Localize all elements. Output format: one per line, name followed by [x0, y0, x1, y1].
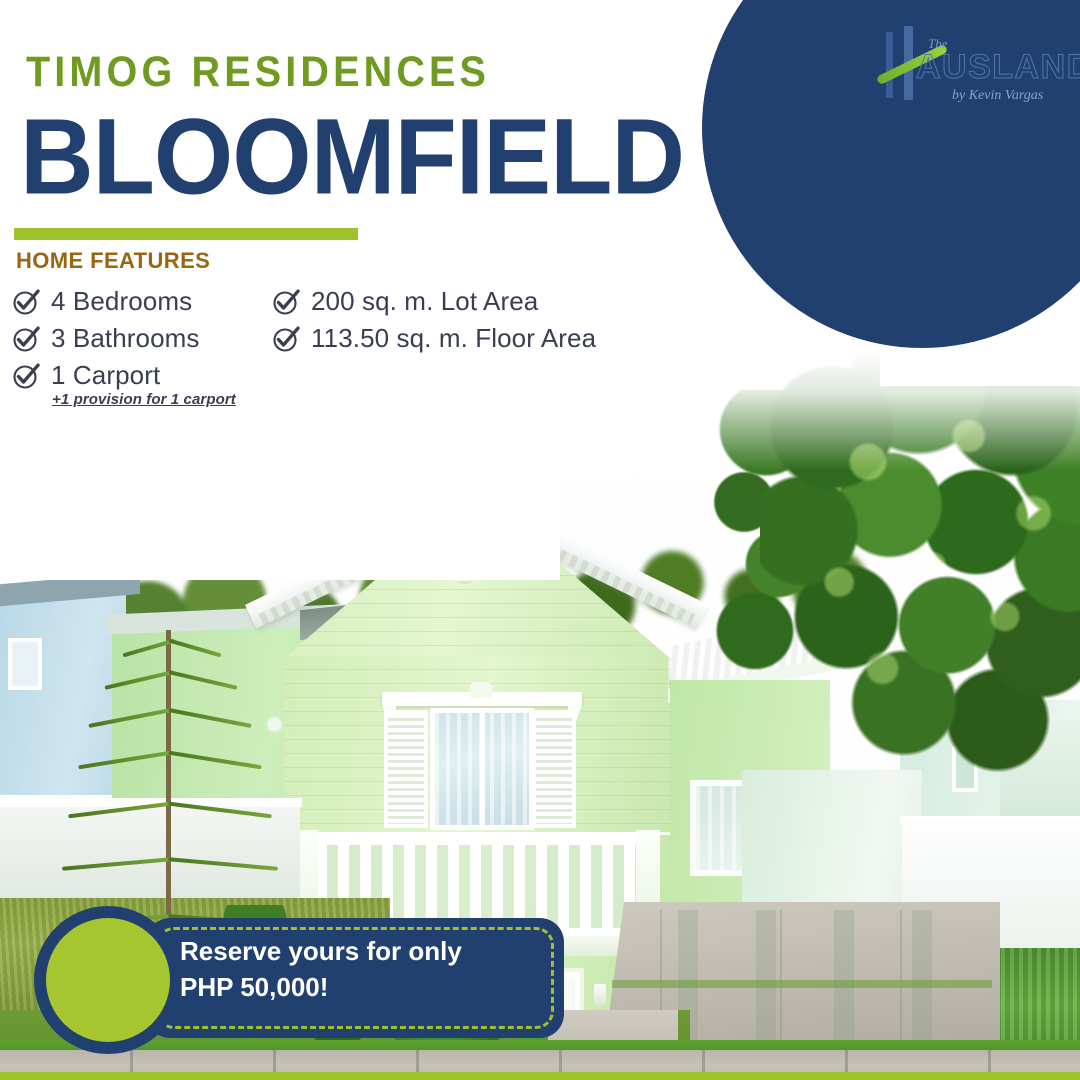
feature-item: 1 Carport [12, 357, 272, 394]
feature-item: 200 sq. m. Lot Area [272, 283, 692, 320]
feature-label: 1 Carport [51, 360, 160, 391]
features-column-right: 200 sq. m. Lot Area 113.50 sq. m. Floor … [272, 283, 692, 357]
feature-label: 113.50 sq. m. Floor Area [311, 323, 596, 354]
window-head-keystone [470, 682, 492, 698]
auslands-logo[interactable]: The AUSLANDS by Kevin Vargas [870, 26, 1066, 112]
home-features-label: HOME FEATURES [16, 248, 210, 274]
driveway-grass-joint [612, 980, 992, 988]
balcony-rail-cap [310, 832, 644, 845]
reserve-cta[interactable]: Reserve yours for only PHP 50,000! [34, 898, 564, 1068]
feature-item: 113.50 sq. m. Floor Area [272, 320, 692, 357]
porch-lamp-right [594, 984, 606, 1006]
logo-wordmark: AUSLANDS [916, 48, 1080, 87]
check-circle-icon [12, 325, 40, 353]
feature-item: 4 Bedrooms [12, 283, 272, 320]
features-column-left: 4 Bedrooms 3 Bathrooms 1 Carport [12, 283, 272, 394]
glass-door-mullion [480, 708, 485, 830]
shutter-right [532, 710, 576, 828]
feature-label: 200 sq. m. Lot Area [311, 286, 538, 317]
development-name: TIMOG RESIDENCES [26, 48, 490, 97]
accent-bar [14, 228, 358, 240]
cta-text: Reserve yours for only PHP 50,000! [180, 934, 540, 1006]
feature-label: 4 Bedrooms [51, 286, 192, 317]
check-circle-icon [12, 362, 40, 390]
check-circle-icon [272, 325, 300, 353]
cta-line-2: PHP 50,000! [180, 970, 540, 1006]
cta-circle-inner [46, 918, 170, 1042]
cta-line-1: Reserve yours for only [180, 934, 540, 970]
page-title: BLOOMFIELD [20, 103, 684, 211]
check-circle-icon [272, 288, 300, 316]
logo-byline: by Kevin Vargas [952, 88, 1043, 104]
neighbor-house-blue-window [8, 638, 42, 690]
bottom-accent-bar [0, 1072, 1080, 1080]
feature-item: 3 Bathrooms [12, 320, 272, 357]
carport-footnote: +1 provision for 1 carport [52, 391, 236, 408]
promo-poster: The AUSLANDS by Kevin Vargas TIMOG RESID… [0, 0, 1080, 1080]
check-circle-icon [12, 288, 40, 316]
logo-bar-left [886, 32, 893, 98]
feature-label: 3 Bathrooms [51, 323, 200, 354]
photo-top-right-mask [880, 350, 1080, 386]
shutter-left [384, 710, 428, 828]
